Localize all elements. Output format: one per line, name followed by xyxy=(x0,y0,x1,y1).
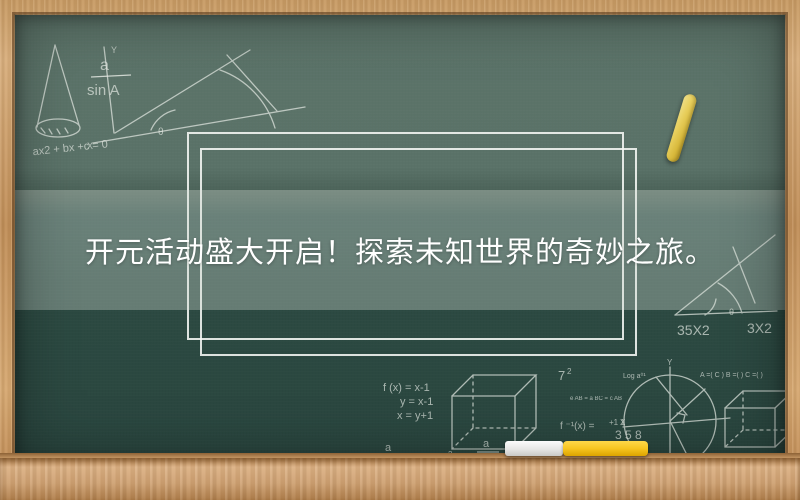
board-vignette xyxy=(15,15,785,462)
chalkboard-surface: a sin A Y X θ θ ax2 + bx +c = 0 f (x) = … xyxy=(15,15,785,462)
chalkboard-scene: a sin A Y X θ θ ax2 + bx +c = 0 f (x) = … xyxy=(0,0,800,500)
chalk-tray xyxy=(0,458,800,500)
tray-chalk-icon xyxy=(563,441,648,456)
board-eraser-icon xyxy=(505,441,563,456)
